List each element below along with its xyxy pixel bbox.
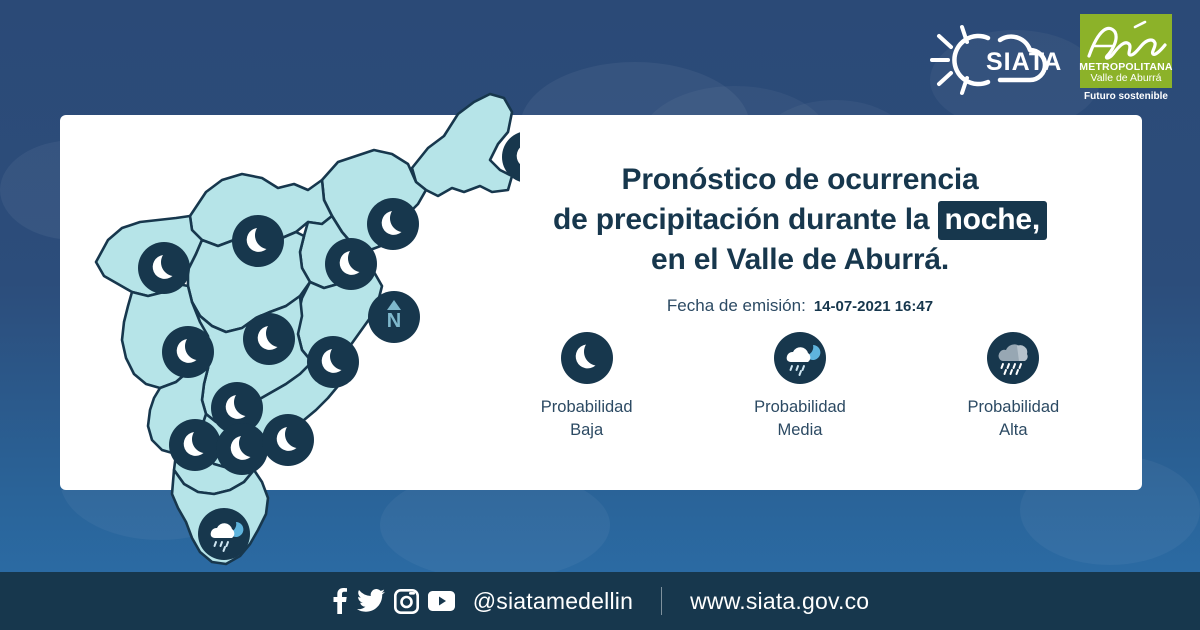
cloud-heavy-rain-icon	[987, 332, 1039, 384]
area-valle-label: Valle de Aburrá	[1090, 73, 1161, 85]
legend-label-baja-line1: Probabilidad	[541, 398, 633, 416]
siata-logo-text: SIATA	[986, 48, 1062, 76]
area-script-icon	[1083, 18, 1169, 62]
emission-date-value: 14-07-2021 16:47	[814, 298, 933, 315]
twitter-icon[interactable]	[357, 589, 385, 613]
siata-logo: SIATA	[926, 18, 1066, 102]
raindrops-icon	[215, 542, 229, 551]
area-metropolitana-logo: METROPOLITANA Valle de Aburrá Futuro sos…	[1080, 14, 1172, 106]
footer-bar: @siatamedellin www.siata.gov.co	[0, 572, 1200, 630]
headline-line-2: de precipitación durante la noche,	[470, 200, 1130, 240]
footer-divider	[661, 587, 662, 615]
moon-icon	[561, 332, 613, 384]
legend-item-media: Probabilidad Media	[705, 332, 895, 442]
website-url[interactable]: www.siata.gov.co	[690, 588, 869, 615]
text-column: Pronóstico de ocurrencia de precipitació…	[470, 160, 1130, 316]
instagram-icon[interactable]	[394, 589, 419, 614]
headline-line-2-text: de precipitación durante la	[553, 203, 929, 236]
headline-line-3: en el Valle de Aburrá.	[470, 240, 1130, 280]
legend-item-alta: Probabilidad Alta	[918, 332, 1108, 442]
legend-label-media-line1: Probabilidad	[754, 398, 846, 416]
legend-label-alta-line1: Probabilidad	[967, 398, 1059, 416]
legend-label-media-line2: Media	[778, 421, 823, 439]
legend-label-alta-line2: Alta	[999, 421, 1027, 439]
cloud-rain-moon-icon	[774, 332, 826, 384]
area-tagline: Futuro sostenible	[1080, 88, 1172, 102]
moon-behind-cloud-icon	[229, 522, 243, 537]
social-icon-group	[331, 588, 455, 614]
logo-group: SIATA METROPOLITANA Valle de Aburrá Futu…	[926, 14, 1172, 106]
headline-line-1: Pronóstico de ocurrencia	[470, 160, 1130, 200]
facebook-icon[interactable]	[331, 588, 348, 614]
emission-date-label: Fecha de emisión:	[667, 296, 806, 316]
headline-highlight-noche: noche,	[938, 201, 1047, 240]
legend-label-baja-line2: Baja	[570, 421, 603, 439]
legend-label-alta: Probabilidad Alta	[967, 396, 1059, 442]
social-handle[interactable]: @siatamedellin	[473, 588, 633, 615]
youtube-icon[interactable]	[428, 591, 455, 611]
emission-date: Fecha de emisión: 14-07-2021 16:47	[470, 296, 1130, 316]
infographic-root: SIATA METROPOLITANA Valle de Aburrá Futu…	[0, 0, 1200, 630]
legend-item-baja: Probabilidad Baja	[492, 332, 682, 442]
legend-label-media: Probabilidad Media	[754, 396, 846, 442]
legend-label-baja: Probabilidad Baja	[541, 396, 633, 442]
legend: Probabilidad Baja Probabilidad Media	[480, 332, 1120, 442]
page-title: Pronóstico de ocurrencia de precipitació…	[470, 160, 1130, 280]
